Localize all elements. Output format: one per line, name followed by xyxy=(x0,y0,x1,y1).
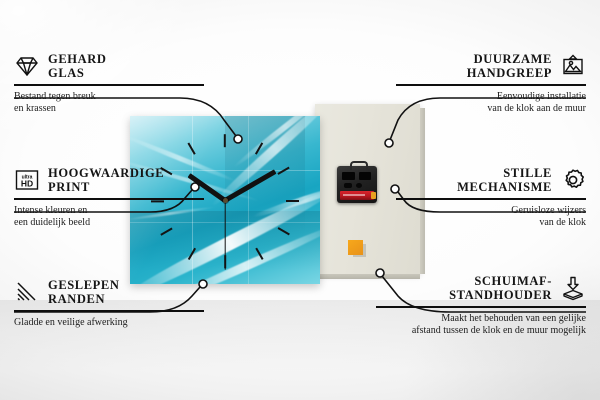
clock-second-hand xyxy=(224,200,225,270)
svg-text:HD: HD xyxy=(21,179,33,189)
divider xyxy=(376,306,586,308)
feature-title-line1: SCHUIMAF- xyxy=(474,274,552,288)
clock-center-hub xyxy=(223,198,228,203)
ultra-hd-icon: ultra HD xyxy=(14,167,40,193)
gear-icon xyxy=(560,167,586,193)
movement-knob xyxy=(344,183,352,188)
clock-movement xyxy=(337,166,377,203)
divider xyxy=(14,84,204,86)
divider xyxy=(14,198,204,200)
feature-desc-line2: en krassen xyxy=(14,103,56,114)
bevelled-edge-icon xyxy=(14,279,40,305)
divider xyxy=(396,198,586,200)
feature-title-line2: STANDHOUDER xyxy=(449,288,552,302)
foam-spacer-icon xyxy=(560,275,586,301)
feature-desc-line2: een duidelijk beeld xyxy=(14,217,90,228)
feature-desc-line1: Maakt het behouden van een gelijke xyxy=(441,313,586,324)
movement-slot xyxy=(342,172,355,180)
feature-desc-line2: afstand tussen de klok en de muur mogeli… xyxy=(412,325,586,336)
feature-title-line2: PRINT xyxy=(48,180,90,194)
feature-geslepen-randen[interactable]: GESLEPEN RANDEN Gladde en veilige afwerk… xyxy=(14,278,204,329)
feature-hoogwaardige-print[interactable]: ultra HD HOOGWAARDIGE PRINT Intense kleu… xyxy=(14,166,204,230)
infographic-canvas: GEHARD GLAS Bestand tegen breuk en krass… xyxy=(0,0,600,400)
feature-title-line2: GLAS xyxy=(48,66,84,80)
feature-duurzame-handgreep[interactable]: DUURZAME HANDGREEP Eenvoudige installati… xyxy=(396,52,586,116)
feature-title-line1: HOOGWAARDIGE xyxy=(48,166,164,180)
battery-terminal xyxy=(371,192,376,199)
feature-title-line2: HANDGREEP xyxy=(467,66,552,80)
feature-title-line1: DUURZAME xyxy=(474,52,552,66)
feature-desc-line2: van de klok xyxy=(539,217,586,228)
feature-desc-line1: Eenvoudige installatie xyxy=(497,91,586,102)
divider xyxy=(14,310,204,312)
foam-spacer xyxy=(348,240,363,255)
clock-tick xyxy=(286,200,299,202)
divider xyxy=(396,84,586,86)
feature-desc-line2: van de klok aan de muur xyxy=(487,103,586,114)
clock-tick xyxy=(224,134,226,147)
feature-stille-mechanisme[interactable]: STILLE MECHANISME Geruisloze wijzers van… xyxy=(396,166,586,230)
picture-hanger-icon xyxy=(560,53,586,79)
feature-title-line1: GEHARD xyxy=(48,52,106,66)
feature-desc-line1: Geruisloze wijzers xyxy=(511,205,586,216)
feature-title-line1: STILLE xyxy=(503,166,552,180)
battery xyxy=(340,191,374,200)
movement-knob xyxy=(356,183,362,188)
feature-desc-line1: Intense kleuren en xyxy=(14,205,87,216)
hanger-loop-icon xyxy=(350,161,368,170)
feature-gehard-glas[interactable]: GEHARD GLAS Bestand tegen breuk en krass… xyxy=(14,52,204,116)
feature-title-line1: GESLEPEN xyxy=(48,278,120,292)
feature-schuimafstandhouder[interactable]: SCHUIMAF- STANDHOUDER Maakt het behouden… xyxy=(376,274,586,338)
battery-label xyxy=(343,194,365,196)
feature-title-line2: RANDEN xyxy=(48,292,105,306)
feature-desc-line1: Bestand tegen breuk xyxy=(14,91,96,102)
diamond-icon xyxy=(14,53,40,79)
feature-title-line2: MECHANISME xyxy=(457,180,552,194)
feature-desc-line1: Gladde en veilige afwerking xyxy=(14,317,128,328)
movement-slot xyxy=(359,172,371,180)
